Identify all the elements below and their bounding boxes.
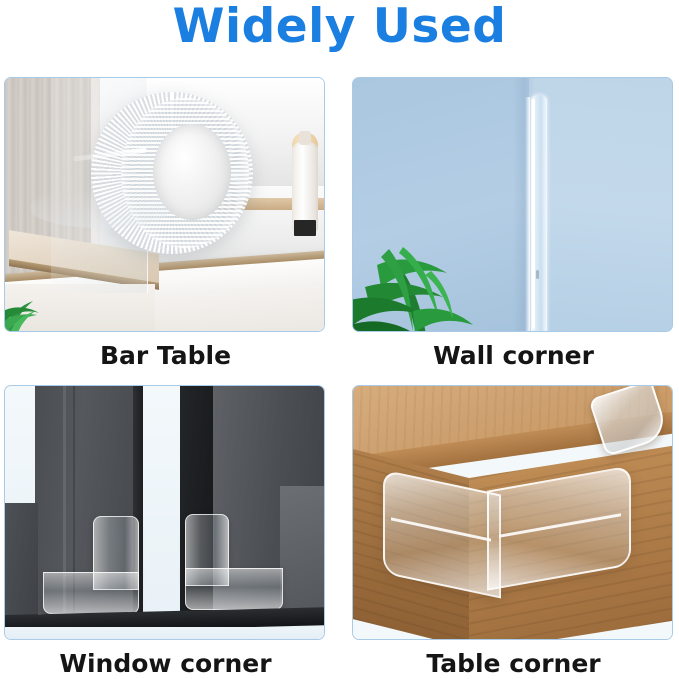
panel-grid: Bar Table bbox=[4, 77, 675, 676]
wall-corner-scene bbox=[353, 78, 672, 331]
page-title: Widely Used bbox=[0, 0, 679, 56]
photo-bar-table bbox=[4, 77, 325, 332]
panel-wall-corner[interactable]: Wall corner bbox=[352, 77, 675, 371]
frame-side-block bbox=[5, 503, 38, 616]
clear-tape-roll bbox=[91, 92, 253, 254]
tape-reflection bbox=[31, 191, 171, 228]
photo-window-corner bbox=[4, 385, 325, 640]
window-corner-scene bbox=[5, 386, 324, 639]
photo-wall-corner bbox=[352, 77, 673, 332]
label-window-corner: Window corner bbox=[4, 649, 327, 679]
bumper-body bbox=[588, 385, 669, 457]
green-plant-icon bbox=[4, 267, 71, 332]
corner-highlight bbox=[525, 97, 530, 332]
green-plant-icon bbox=[352, 207, 497, 332]
label-wall-corner: Wall corner bbox=[352, 341, 675, 371]
bumper-arm-right bbox=[487, 465, 631, 590]
wall-right bbox=[529, 78, 672, 331]
window-glass bbox=[280, 486, 325, 616]
bar-table-scene bbox=[5, 78, 324, 331]
clear-l-bumper bbox=[383, 468, 631, 593]
guard-horizontal-arm bbox=[185, 568, 283, 610]
clear-l-guard-right bbox=[185, 514, 283, 610]
floor-strip bbox=[4, 627, 325, 640]
guard-horizontal-arm bbox=[43, 572, 139, 614]
label-table-corner: Table corner bbox=[352, 649, 675, 679]
clear-corner-strip bbox=[531, 95, 547, 332]
panel-bar-table[interactable]: Bar Table bbox=[4, 77, 327, 371]
loose-corner-bumper bbox=[594, 385, 666, 452]
photo-table-corner bbox=[352, 385, 673, 640]
table-corner-scene bbox=[353, 386, 672, 639]
label-bar-table: Bar Table bbox=[4, 341, 327, 371]
panel-window-corner[interactable]: Window corner bbox=[4, 385, 327, 679]
bottle bbox=[292, 142, 318, 232]
clear-l-guard-left bbox=[43, 516, 139, 614]
bumper-arm-left bbox=[383, 469, 501, 598]
bottle-label bbox=[294, 220, 316, 236]
panel-table-corner[interactable]: Table corner bbox=[352, 385, 675, 679]
guard-seam bbox=[536, 270, 539, 279]
